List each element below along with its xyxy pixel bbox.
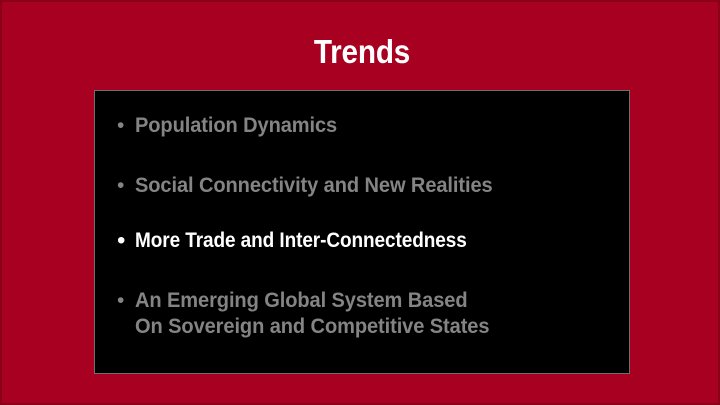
list-item-population-dynamics[interactable]: • Population Dynamics	[117, 113, 625, 139]
bullet-point-icon: •	[117, 173, 135, 199]
page-title: Trends	[38, 32, 686, 72]
list-item-label: Social Connectivity and New Realities	[135, 173, 603, 199]
bullet-point-icon: •	[117, 113, 135, 139]
presentation-slide: Trends • Population Dynamics • Social Co…	[0, 0, 720, 405]
list-item-emerging-global-system[interactable]: • An Emerging Global System Based On Sov…	[117, 288, 625, 340]
trends-bullet-list: • Population Dynamics • Social Connectiv…	[95, 91, 629, 373]
bullet-point-icon: •	[117, 228, 135, 254]
bullet-point-icon: •	[117, 288, 135, 314]
list-item-social-connectivity[interactable]: • Social Connectivity and New Realities	[117, 173, 625, 199]
list-item-more-trade[interactable]: • More Trade and Inter-Connectedness	[117, 228, 625, 254]
list-item-label: More Trade and Inter-Connectedness	[135, 228, 578, 254]
list-item-label: Population Dynamics	[135, 113, 603, 139]
list-item-label: An Emerging Global System Based On Sover…	[135, 288, 603, 340]
content-panel: • Population Dynamics • Social Connectiv…	[94, 90, 630, 374]
